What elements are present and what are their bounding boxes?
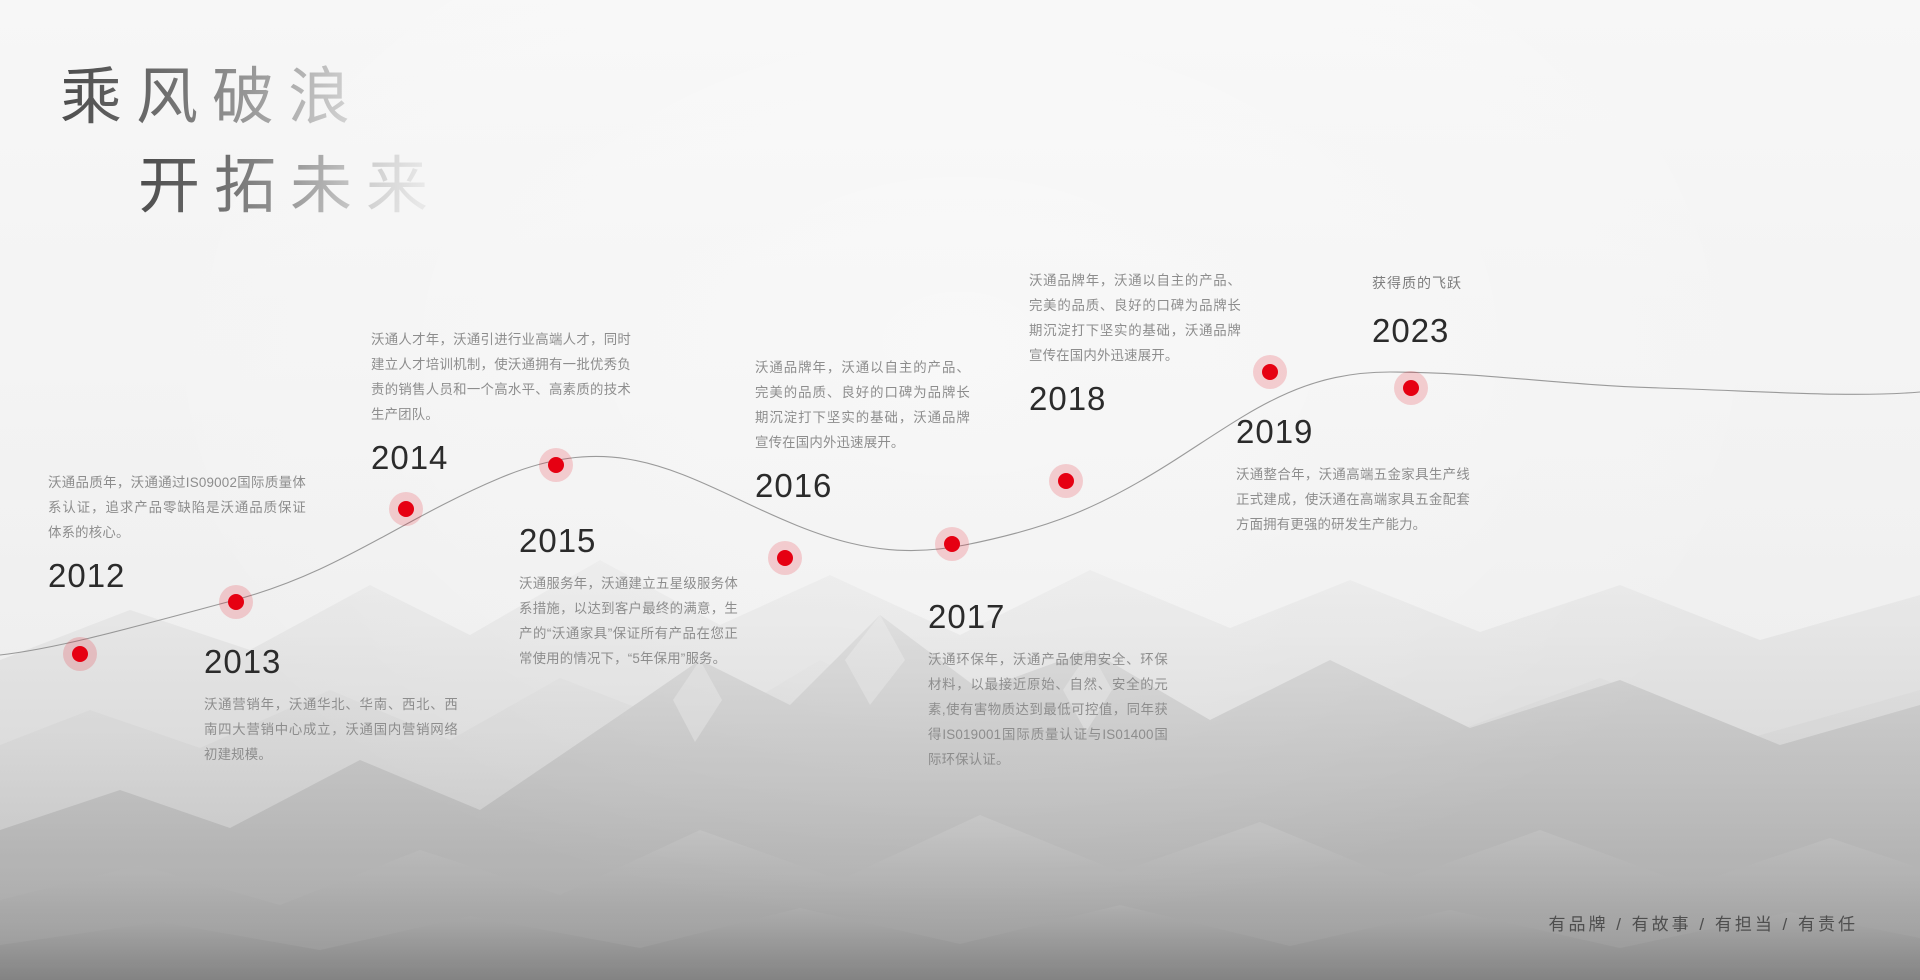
- entry-year: 2016: [755, 469, 970, 502]
- node-dot-icon: [398, 501, 414, 517]
- timeline-entry-2014: 沃通人才年，沃通引进行业高端人才，同时建立人才培训机制，使沃通拥有一批优秀负责的…: [371, 327, 631, 474]
- timeline-entry-2016: 沃通品牌年，沃通以自主的产品、完美的品质、良好的口碑为品牌长期沉淀打下坚实的基础…: [755, 355, 970, 502]
- entry-description: 沃通服务年，沃通建立五星级服务体系措施，以达到客户最终的满意，生产的“沃通家具”…: [519, 571, 738, 671]
- timeline-entry-2013: 2013 沃通营销年，沃通华北、华南、西北、西南四大营销中心成立，沃通国内营销网…: [204, 645, 458, 767]
- timeline-entry-2019: 2019 沃通整合年，沃通高端五金家具生产线正式建成，使沃通在高端家具五金配套方…: [1236, 415, 1470, 537]
- entry-year: 2013: [204, 645, 458, 678]
- timeline-entry-2015: 2015 沃通服务年，沃通建立五星级服务体系措施，以达到客户最终的满意，生产的“…: [519, 524, 738, 671]
- entry-kicker: 获得质的飞跃: [1372, 276, 1572, 290]
- node-dot-icon: [1262, 364, 1278, 380]
- entry-year: 2023: [1372, 314, 1572, 347]
- entry-description: 沃通整合年，沃通高端五金家具生产线正式建成，使沃通在高端家具五金配套方面拥有更强…: [1236, 462, 1470, 537]
- node-dot-icon: [777, 550, 793, 566]
- timeline-node-2017[interactable]: [935, 527, 969, 561]
- entry-year: 2018: [1029, 382, 1241, 415]
- timeline-infographic: 乘风破浪 开拓未来 沃通品质年，沃通通: [0, 0, 1920, 980]
- node-dot-icon: [1403, 380, 1419, 396]
- timeline-node-2012[interactable]: [63, 637, 97, 671]
- entry-year: 2015: [519, 524, 738, 557]
- node-dot-icon: [1058, 473, 1074, 489]
- node-dot-icon: [228, 594, 244, 610]
- entry-description: 沃通环保年，沃通产品使用安全、环保材料，以最接近原始、自然、安全的元素,使有害物…: [928, 647, 1168, 772]
- timeline-node-2016[interactable]: [768, 541, 802, 575]
- timeline-entry-2023: 获得质的飞跃 2023: [1372, 276, 1572, 347]
- timeline-node-2019[interactable]: [1253, 355, 1287, 389]
- node-dot-icon: [944, 536, 960, 552]
- footer-tagline: 有品牌 / 有故事 / 有担当 / 有责任: [1548, 910, 1858, 935]
- entry-description: 沃通品质年，沃通通过IS09002国际质量体系认证，追求产品零缺陷是沃通品质保证…: [48, 470, 306, 545]
- title-line-primary: 乘风破浪: [60, 62, 442, 135]
- entry-description: 沃通人才年，沃通引进行业高端人才，同时建立人才培训机制，使沃通拥有一批优秀负责的…: [371, 327, 631, 427]
- entry-description: 沃通营销年，沃通华北、华南、西北、西南四大营销中心成立，沃通国内营销网络初建规模…: [204, 692, 458, 767]
- node-dot-icon: [72, 646, 88, 662]
- timeline-node-2018[interactable]: [1049, 464, 1083, 498]
- title-line-secondary: 开拓未来: [138, 151, 442, 224]
- entry-description: 沃通品牌年，沃通以自主的产品、完美的品质、良好的口碑为品牌长期沉淀打下坚实的基础…: [1029, 268, 1241, 368]
- entry-year: 2014: [371, 441, 631, 474]
- entry-year: 2019: [1236, 415, 1470, 448]
- entry-year: 2017: [928, 600, 1168, 633]
- timeline-entry-2018: 沃通品牌年，沃通以自主的产品、完美的品质、良好的口碑为品牌长期沉淀打下坚实的基础…: [1029, 268, 1241, 415]
- page-title: 乘风破浪 开拓未来: [60, 62, 442, 224]
- timeline-entry-2017: 2017 沃通环保年，沃通产品使用安全、环保材料，以最接近原始、自然、安全的元素…: [928, 600, 1168, 772]
- timeline-node-2023[interactable]: [1394, 371, 1428, 405]
- timeline-entry-2012: 沃通品质年，沃通通过IS09002国际质量体系认证，追求产品零缺陷是沃通品质保证…: [48, 470, 306, 592]
- entry-year: 2012: [48, 559, 306, 592]
- timeline-node-2014[interactable]: [389, 492, 423, 526]
- entry-description: 沃通品牌年，沃通以自主的产品、完美的品质、良好的口碑为品牌长期沉淀打下坚实的基础…: [755, 355, 970, 455]
